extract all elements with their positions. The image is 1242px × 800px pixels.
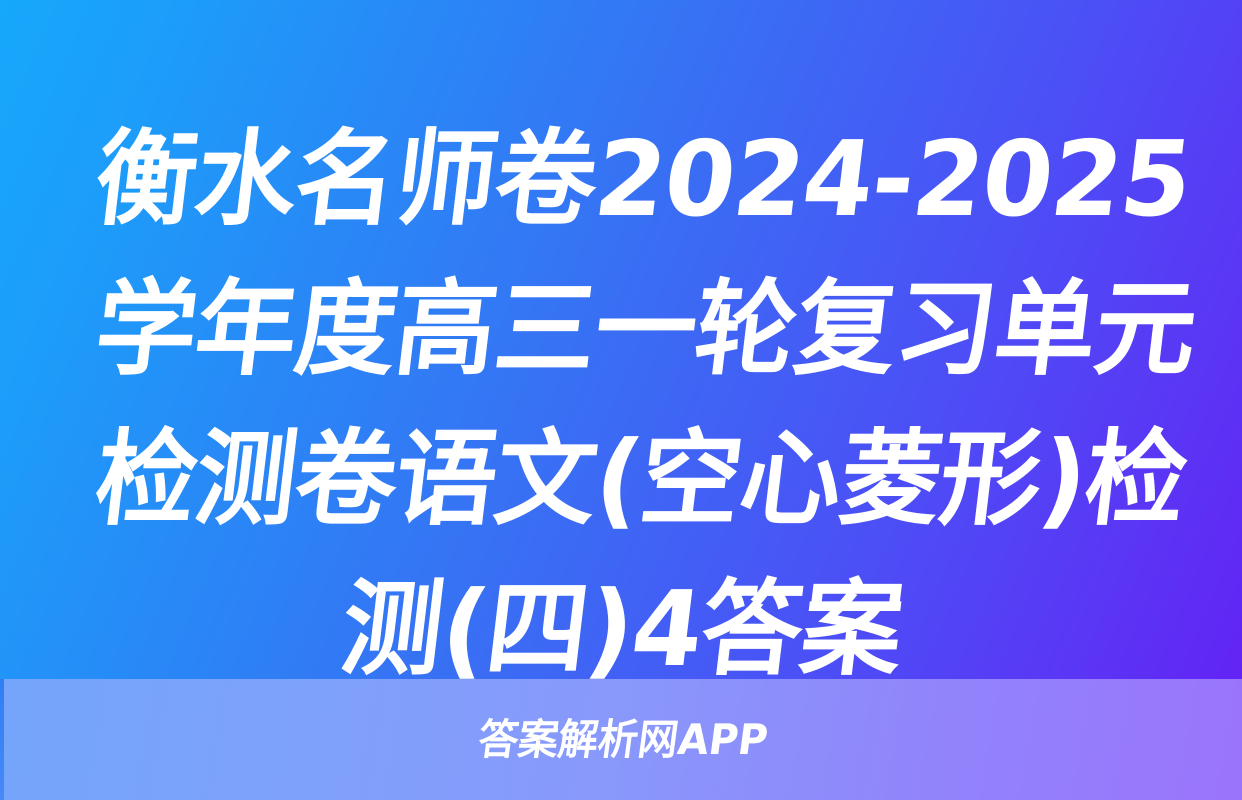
headline-line-2: 学年度高三一轮复习单元 <box>87 254 1156 404</box>
footer-banner: 答案解析网APP <box>4 679 1242 800</box>
app-wordmark: 答案解析网APP <box>475 716 770 764</box>
poster-canvas: 衡水名师卷2024-2025 学年度高三一轮复习单元 检测卷语文(空心菱形)检 … <box>0 0 1242 800</box>
headline-line-3: 检测卷语文(空心菱形)检 <box>87 404 1156 554</box>
headline-line-1: 衡水名师卷2024-2025 <box>87 104 1156 254</box>
page-title: 衡水名师卷2024-2025 学年度高三一轮复习单元 检测卷语文(空心菱形)检 … <box>80 104 1164 704</box>
